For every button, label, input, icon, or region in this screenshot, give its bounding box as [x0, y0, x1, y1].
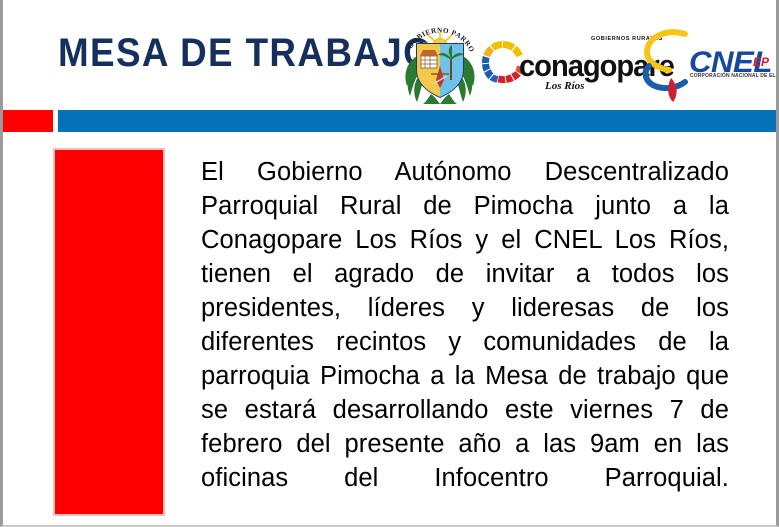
page-title: MESA DE TRABAJO	[58, 31, 433, 76]
cnel-subtitle: CORPORACIÓN NACIONAL DE ELECTRICIDAD	[690, 73, 779, 79]
logo-strip: GOBIERNO PARROQUIAL PIMOCHA	[401, 14, 779, 106]
slide-canvas: MESA DE TRABAJO GOBIERNO PARROQUIAL PIMO…	[0, 0, 779, 527]
cnel-ep-suffix: EP	[753, 55, 769, 69]
slide-header: MESA DE TRABAJO GOBIERNO PARROQUIAL PIMO…	[3, 0, 776, 110]
invitation-body-text: El Gobierno Autónomo Descentralizado Par…	[201, 155, 729, 527]
gad-parroquial-pimocha-shield-icon: GOBIERNO PARROQUIAL PIMOCHA	[401, 18, 479, 104]
cnel-ep-logo: CNEL EP CORPORACIÓN NACIONAL DE ELECTRIC…	[641, 24, 779, 106]
cnel-swoosh-icon	[641, 26, 693, 106]
divider-blue-bar	[58, 110, 776, 132]
divider-red-block	[3, 110, 53, 132]
conagopare-logo: GOBIERNOS RURALES conagopare Los Ríos	[479, 28, 639, 106]
red-accent-panel	[53, 148, 165, 516]
conagopare-subtitle: Los Ríos	[545, 80, 584, 92]
